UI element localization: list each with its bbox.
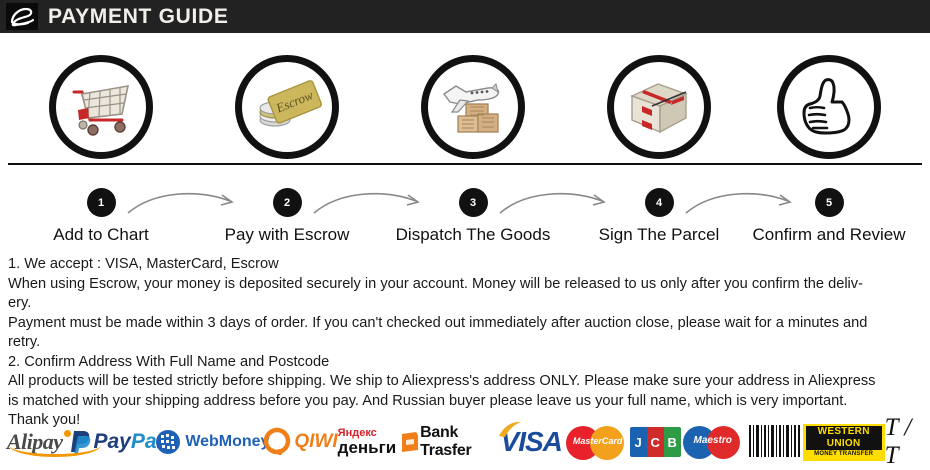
policy-line: When using Escrow, your money is deposit… — [8, 275, 922, 295]
policy-line: All products will be tested strictly bef… — [8, 372, 922, 392]
connector-arrow-1-2 — [126, 183, 246, 221]
policy-line: is matched with your shipping address be… — [8, 392, 922, 412]
thumbs-up-icon — [792, 70, 866, 144]
step-5-label: Confirm and Review — [736, 225, 922, 245]
mastercard-text: MasterCard — [570, 436, 626, 446]
step-2-badge: 2 — [273, 188, 302, 217]
step-1-badge: 1 — [87, 188, 116, 217]
sealed-parcel-box-icon — [622, 70, 696, 144]
mastercard-mark: MasterCard — [564, 422, 630, 462]
mastercard-logo: MasterCard — [564, 418, 630, 466]
visa-wordmark: VISA — [501, 426, 562, 458]
bank-transfer-logo: Bank Trasfer — [420, 418, 499, 466]
escrow-card-coins-icon: Escrow — [250, 70, 324, 144]
bank-transfer-text: Bank Trasfer — [420, 424, 499, 460]
connector-arrow-2-3 — [312, 183, 432, 221]
step-4-badge: 4 — [645, 188, 674, 217]
payment-guide-page: PAYMENT GUIDE — [0, 0, 930, 466]
tt-logo: T / T — [885, 418, 930, 466]
western-union-mark: WESTERN UNION MONEY TRANSFER — [803, 424, 885, 461]
step-4-circle — [607, 55, 711, 159]
alipay-wordmark: Alipay — [7, 429, 63, 455]
webmoney-text: WebMoney — [185, 433, 269, 451]
yandex-money-wordmark: Яндекс деньги — [338, 428, 397, 456]
policy-line: Payment must be made within 3 days of or… — [8, 314, 922, 334]
alipay-dot-icon — [64, 430, 71, 437]
webmoney-logo: WebMoney — [162, 418, 262, 466]
barcode-icon — [747, 423, 803, 461]
step-4-label: Sign The Parcel — [566, 225, 752, 245]
yandex-money-logo: Яндекс деньги — [338, 418, 421, 466]
maestro-text: Maestro — [685, 435, 741, 446]
alipay-logo: Alipay — [0, 418, 69, 466]
policy-line: 1. We accept : VISA, MasterCard, Escrow — [8, 255, 922, 275]
qiwi-logo: QIWI — [262, 418, 337, 466]
barcode-logo — [747, 418, 803, 466]
step-5: 5 Confirm and Review — [736, 33, 922, 255]
step-5-badge: 5 — [815, 188, 844, 217]
policy-line: ery. — [8, 294, 922, 314]
western-text: WESTERN — [806, 426, 882, 438]
policy-line: 2. Confirm Address With Full Name and Po… — [8, 353, 922, 373]
western-union-logo: WESTERN UNION MONEY TRANSFER — [803, 418, 885, 466]
jcb-letter-c: C — [647, 427, 664, 457]
step-3-circle — [421, 55, 525, 159]
paypal-text-pay: Pay — [93, 430, 130, 454]
step-2-label: Pay with Escrow — [194, 225, 380, 245]
step-5-circle — [777, 55, 881, 159]
yandex-wallet-icon — [400, 431, 420, 453]
page-header: PAYMENT GUIDE — [0, 0, 930, 33]
paypal-logo: Pay Pal — [69, 418, 162, 466]
step-3-badge: 3 — [459, 188, 488, 217]
ribbon-swoosh-logo-icon — [6, 3, 38, 30]
qiwi-text: QIWI — [294, 431, 337, 453]
qiwi-wordmark: QIWI — [262, 427, 337, 457]
jcb-mark: J C B — [630, 427, 681, 457]
step-3: 3 Dispatch The Goods — [380, 33, 566, 255]
maestro-logo: Maestro — [681, 418, 747, 466]
visa-logo: VISA — [499, 418, 564, 466]
airplane-boxes-icon — [436, 70, 510, 144]
step-4: 4 Sign The Parcel — [566, 33, 752, 255]
step-1-label: Add to Chart — [8, 225, 194, 245]
payment-methods-row: Alipay Pay Pal — [0, 418, 930, 466]
dengi-text: деньги — [338, 439, 397, 456]
step-3-label: Dispatch The Goods — [380, 225, 566, 245]
step-2: Escrow 2 Pay with Escrow — [194, 33, 380, 255]
jcb-logo: J C B — [630, 418, 681, 466]
step-2-circle: Escrow — [235, 55, 339, 159]
step-1-circle — [49, 55, 153, 159]
webmoney-wordmark: WebMoney — [155, 429, 269, 455]
jcb-letter-b: B — [664, 427, 681, 457]
webmoney-globe-icon — [155, 429, 181, 455]
page-title: PAYMENT GUIDE — [48, 5, 229, 29]
jcb-letter-j: J — [630, 427, 647, 457]
steps-timeline: 1 Add to Chart Escrow 2 Pay with Escrow — [0, 33, 930, 255]
money-transfer-text: MONEY TRANSFER — [814, 450, 873, 459]
qiwi-circle-icon — [262, 427, 292, 457]
policy-line: retry. — [8, 333, 922, 353]
maestro-mark: Maestro — [681, 423, 747, 461]
tt-text: T / T — [885, 414, 930, 470]
shopping-cart-icon — [64, 70, 138, 144]
policy-text: 1. We accept : VISA, MasterCard, Escrow … — [8, 255, 922, 431]
connector-arrow-3-4 — [498, 183, 618, 221]
step-1: 1 Add to Chart — [8, 33, 194, 255]
union-text: UNION — [806, 438, 882, 450]
connector-arrow-4-5 — [684, 183, 804, 221]
visa-swoosh-icon — [497, 420, 523, 440]
